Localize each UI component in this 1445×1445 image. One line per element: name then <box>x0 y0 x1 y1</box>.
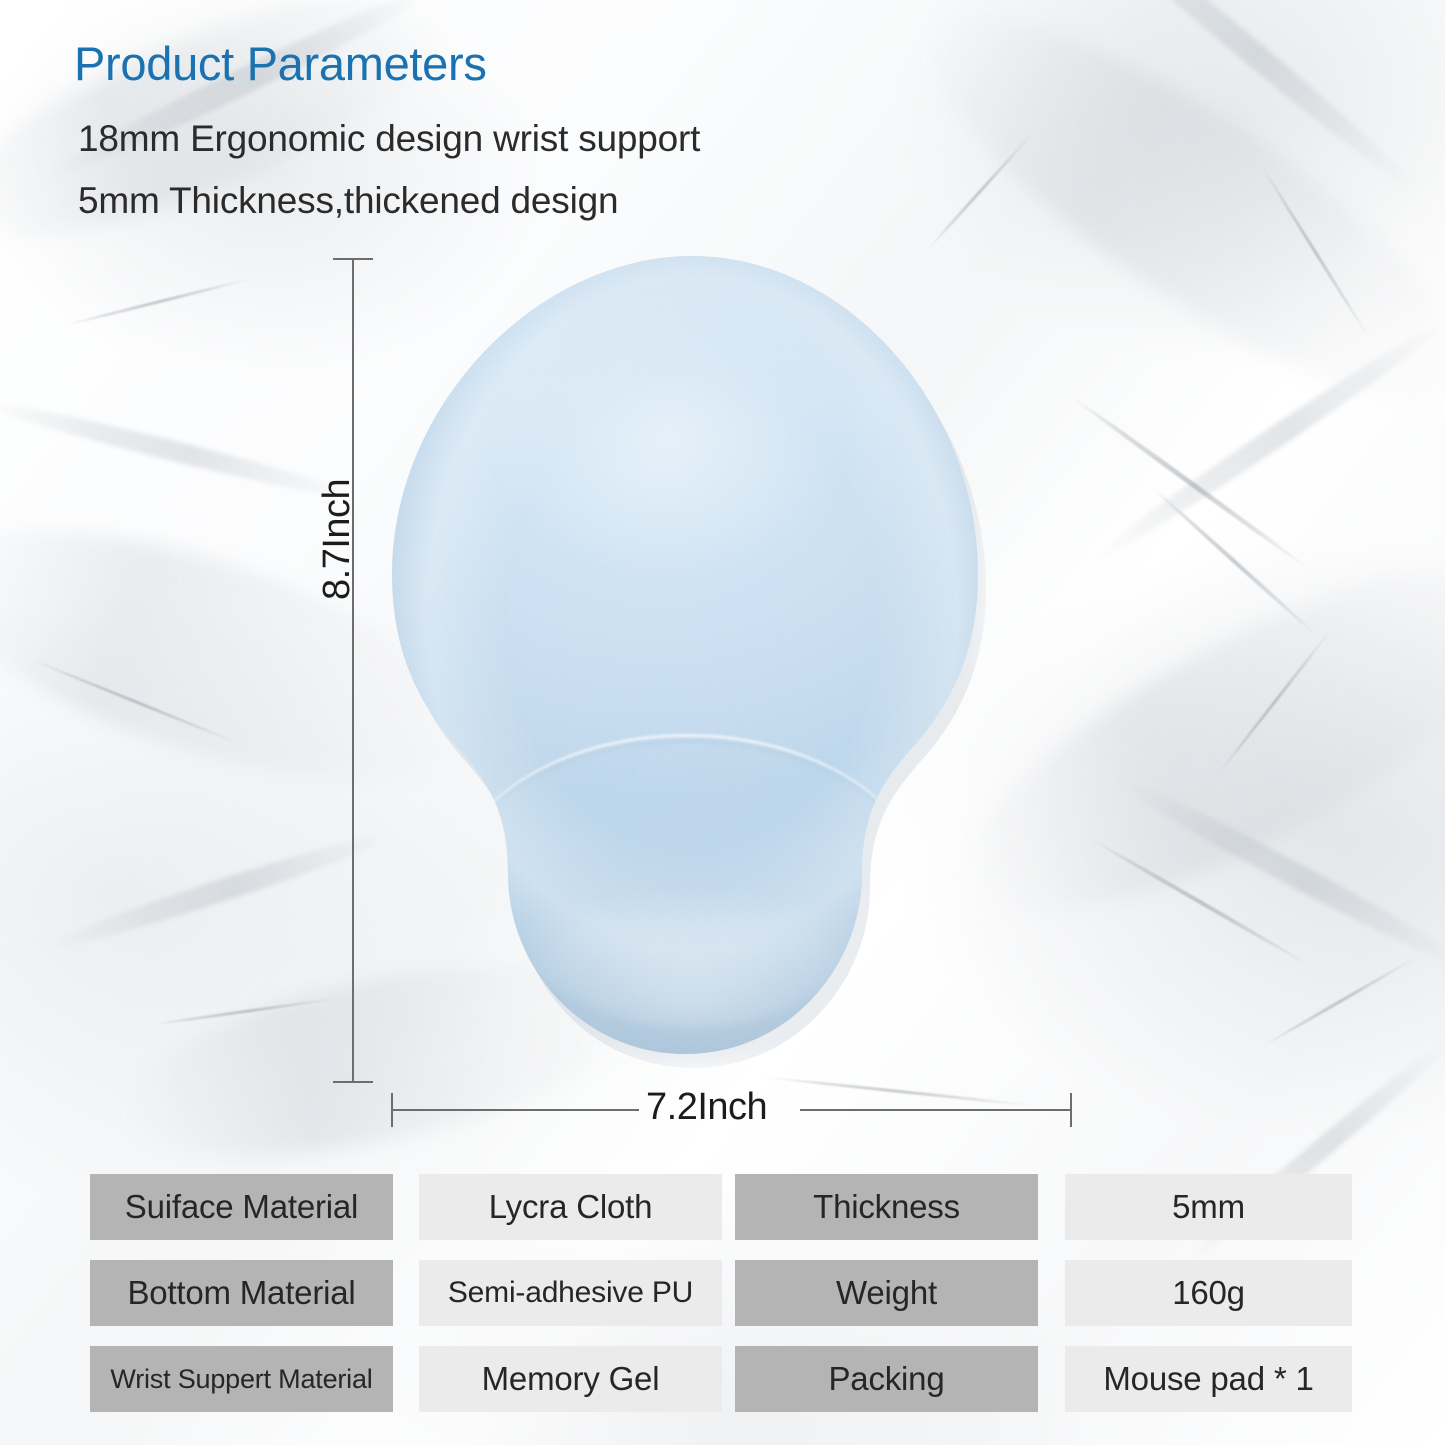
spec-label-packing: Packing <box>735 1346 1038 1412</box>
pad-seam-group <box>392 256 992 1068</box>
spec-label-weight: Weight <box>735 1260 1038 1326</box>
height-dimension-bottom-cap <box>333 1081 373 1083</box>
page-title: Product Parameters <box>74 36 487 91</box>
product-infographic: Product Parameters 18mm Ergonomic design… <box>0 0 1445 1445</box>
spec-value-packing: Mouse pad * 1 <box>1065 1346 1352 1412</box>
width-dimension-line-right <box>800 1109 1072 1111</box>
table-row: Wrist Suppert Material Memory Gel Packin… <box>90 1346 1352 1412</box>
height-dimension-line <box>352 258 354 1082</box>
spec-value-weight: 160g <box>1065 1260 1352 1326</box>
mouse-pad-image <box>392 256 992 1068</box>
spec-label-surface-material: Suiface Material <box>90 1174 393 1240</box>
subtitle-line-2: 5mm Thickness,thickened design <box>78 180 618 222</box>
spec-value-wrist-support-material: Memory Gel <box>419 1346 722 1412</box>
wrist-rest-seam <box>450 734 924 954</box>
height-dimension-label: 8.7Inch <box>316 479 359 600</box>
width-dimension-right-cap <box>1070 1093 1072 1127</box>
spec-value-surface-material: Lycra Cloth <box>419 1174 722 1240</box>
spec-value-thickness: 5mm <box>1065 1174 1352 1240</box>
spec-label-thickness: Thickness <box>735 1174 1038 1240</box>
spec-label-wrist-support-material: Wrist Suppert Material <box>90 1346 393 1412</box>
spec-label-bottom-material: Bottom Material <box>90 1260 393 1326</box>
table-row: Suiface Material Lycra Cloth Thickness 5… <box>90 1174 1352 1240</box>
spec-value-bottom-material: Semi-adhesive PU <box>419 1260 722 1326</box>
width-dimension-line-left <box>391 1109 639 1111</box>
table-row: Bottom Material Semi-adhesive PU Weight … <box>90 1260 1352 1326</box>
specification-table: Suiface Material Lycra Cloth Thickness 5… <box>90 1174 1352 1432</box>
width-dimension-label: 7.2Inch <box>646 1086 767 1129</box>
subtitle-line-1: 18mm Ergonomic design wrist support <box>78 118 700 160</box>
